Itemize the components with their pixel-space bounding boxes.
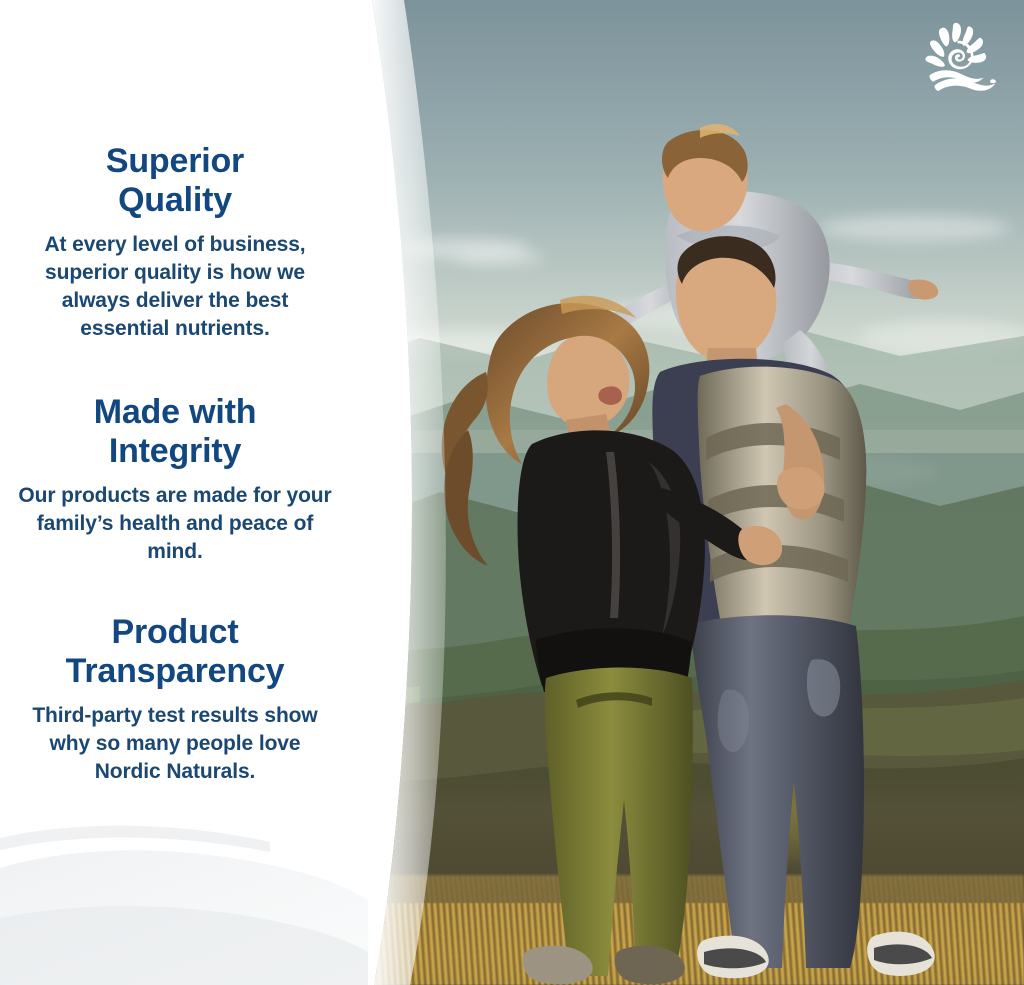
- promotional-poster: SuperiorQuality At every level of busine…: [0, 0, 1024, 985]
- block-body: At every level of business, superior qua…: [18, 231, 332, 344]
- sun-wave-logo-icon: [918, 18, 1002, 102]
- block-body: Our products are made for your family’s …: [18, 482, 332, 566]
- block-body: Third-party test results show why so man…: [18, 702, 332, 786]
- heading-line-2: Quality: [118, 181, 232, 219]
- value-block-product-transparency: ProductTransparency Third-party test res…: [0, 613, 350, 786]
- block-heading: SuperiorQuality: [18, 142, 332, 221]
- text-content: SuperiorQuality At every level of busine…: [0, 0, 350, 985]
- heading-line-1: Made with: [94, 393, 257, 431]
- heading-line-1: Superior: [106, 142, 244, 180]
- block-heading: Made withIntegrity: [18, 393, 332, 472]
- heading-line-2: Transparency: [66, 652, 285, 690]
- heading-line-1: Product: [111, 613, 238, 651]
- value-block-made-with-integrity: Made withIntegrity Our products are made…: [0, 393, 350, 566]
- block-heading: ProductTransparency: [18, 613, 332, 692]
- value-block-superior-quality: SuperiorQuality At every level of busine…: [0, 142, 350, 343]
- heading-line-2: Integrity: [109, 432, 241, 470]
